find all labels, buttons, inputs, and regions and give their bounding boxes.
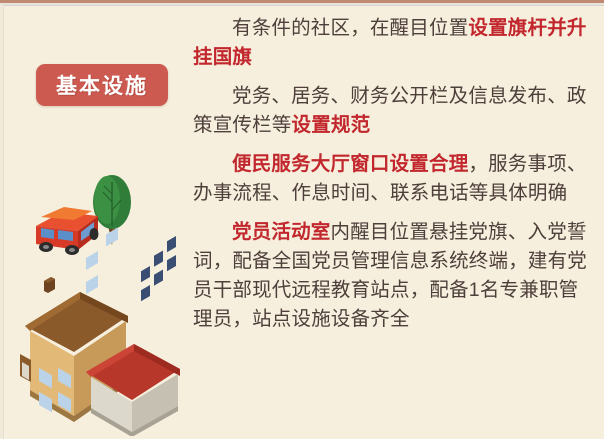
paragraph-2-highlight: 设置规范 [292,114,371,136]
white-house-icon [86,236,180,436]
section-badge-label: 基本设施 [56,70,148,100]
paragraph-3-highlight: 便民服务大厅窗口设置合理 [232,153,468,175]
paragraph-4: 党员活动室内醒目位置悬挂党旗、入党誓词，配备全国党员管理信息系统终端，建有党员干… [193,218,593,334]
infographic-poster: 基本设施 [0,0,604,439]
paragraph-2-segment-1: 党务、居务、财务公开栏及信息发布、政策宣传栏等 [193,85,587,136]
red-car-icon [36,207,99,255]
isometric-community-scene-icon [8,168,198,436]
paragraph-3: 便民服务大厅窗口设置合理，服务事项、办事流程、作息时间、联系电话等具体明确 [193,150,593,208]
section-badge: 基本设施 [36,64,168,106]
illustration-container [8,168,198,436]
paragraph-4-highlight: 党员活动室 [232,221,331,243]
paragraph-1: 有条件的社区，在醒目位置设置旗杆并升挂国旗 [193,14,593,72]
body-text-column: 有条件的社区，在醒目位置设置旗杆并升挂国旗 党务、居务、财务公开栏及信息发布、政… [193,14,593,334]
left-edge-strip [0,5,4,439]
paragraph-1-segment-1: 有条件的社区，在醒目位置 [232,17,468,39]
top-border-rule-tertiary [0,5,604,6]
paragraph-2: 党务、居务、财务公开栏及信息发布、政策宣传栏等设置规范 [193,82,593,140]
